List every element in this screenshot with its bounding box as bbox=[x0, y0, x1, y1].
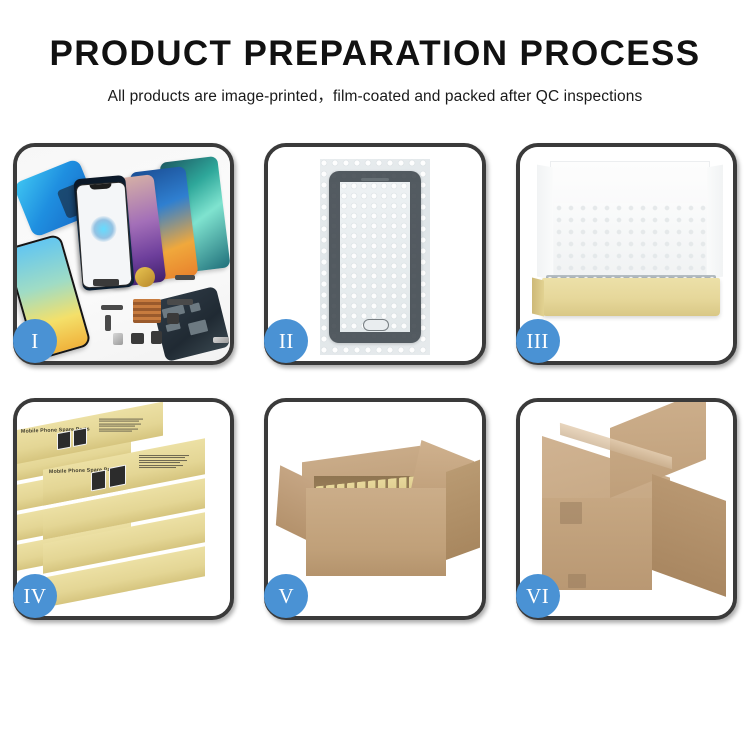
box-artwork-screen-b bbox=[73, 427, 87, 447]
box-spec-lines-front bbox=[139, 455, 191, 468]
earpiece-slot bbox=[361, 178, 389, 181]
step-badge-2: II bbox=[264, 319, 308, 363]
carton-front-face bbox=[542, 498, 652, 590]
process-step-4[interactable]: Mobile Phone Spare Parts Mobile Phone Sp… bbox=[13, 398, 234, 620]
box-spec-lines-back bbox=[99, 419, 145, 432]
process-step-6[interactable]: VI bbox=[516, 398, 737, 620]
step-numeral-1: I bbox=[31, 329, 39, 354]
step-numeral-2: II bbox=[279, 329, 294, 354]
process-step-3[interactable]: III bbox=[516, 143, 737, 365]
logic-board-part bbox=[152, 286, 231, 361]
carton-handle-tab-top bbox=[560, 502, 582, 524]
home-button bbox=[363, 319, 389, 331]
phone-screen-bezel bbox=[329, 171, 421, 343]
step-numeral-3: III bbox=[526, 329, 548, 354]
box-artwork-screen-a bbox=[57, 430, 71, 450]
step-badge-6: VI bbox=[516, 574, 560, 618]
part-flex-cable-right bbox=[167, 299, 193, 305]
part-gold-speaker bbox=[135, 267, 155, 287]
process-step-1[interactable]: I bbox=[13, 143, 234, 365]
step-numeral-6: VI bbox=[526, 584, 549, 609]
box-artwork-screen-c bbox=[91, 469, 106, 491]
phone-notch bbox=[89, 183, 111, 190]
part-speaker-mesh bbox=[93, 279, 119, 286]
part-screws bbox=[213, 337, 229, 343]
kraft-box-tray bbox=[542, 278, 720, 316]
part-button-flex bbox=[175, 275, 195, 280]
part-battery-connector bbox=[131, 333, 144, 344]
phone-white-front bbox=[75, 181, 132, 288]
process-step-5[interactable]: V bbox=[264, 398, 485, 620]
carton-front-panel bbox=[306, 488, 446, 576]
step-badge-5: V bbox=[264, 574, 308, 618]
step-numeral-5: V bbox=[278, 584, 294, 609]
page-title: PRODUCT PREPARATION PROCESS bbox=[0, 0, 750, 73]
part-vibrator bbox=[151, 331, 162, 344]
header: PRODUCT PREPARATION PROCESS All products… bbox=[0, 0, 750, 106]
process-step-2[interactable]: II bbox=[264, 143, 485, 365]
foam-padding bbox=[554, 203, 706, 281]
part-flex-cable-left bbox=[101, 305, 123, 310]
carton-handle-tab-bottom bbox=[568, 574, 586, 588]
infographic-page: PRODUCT PREPARATION PROCESS All products… bbox=[0, 0, 750, 750]
carton-side-panel bbox=[446, 460, 480, 560]
process-grid: I II bbox=[13, 143, 737, 620]
part-camera-module bbox=[167, 313, 179, 324]
part-flex-cable-mid bbox=[105, 315, 111, 331]
step-badge-1: I bbox=[13, 319, 57, 363]
page-subtitle: All products are image-printed，film-coat… bbox=[0, 73, 750, 106]
part-metal-bracket bbox=[113, 333, 123, 345]
step-badge-3: III bbox=[516, 319, 560, 363]
carton-right-face bbox=[652, 474, 726, 597]
process-row-top: I II bbox=[13, 143, 737, 365]
process-row-bottom: Mobile Phone Spare Parts Mobile Phone Sp… bbox=[13, 398, 737, 620]
step-numeral-4: IV bbox=[23, 584, 46, 609]
part-copper-shield bbox=[133, 299, 161, 323]
box-artwork-screen-d bbox=[109, 465, 126, 488]
step-badge-4: IV bbox=[13, 574, 57, 618]
